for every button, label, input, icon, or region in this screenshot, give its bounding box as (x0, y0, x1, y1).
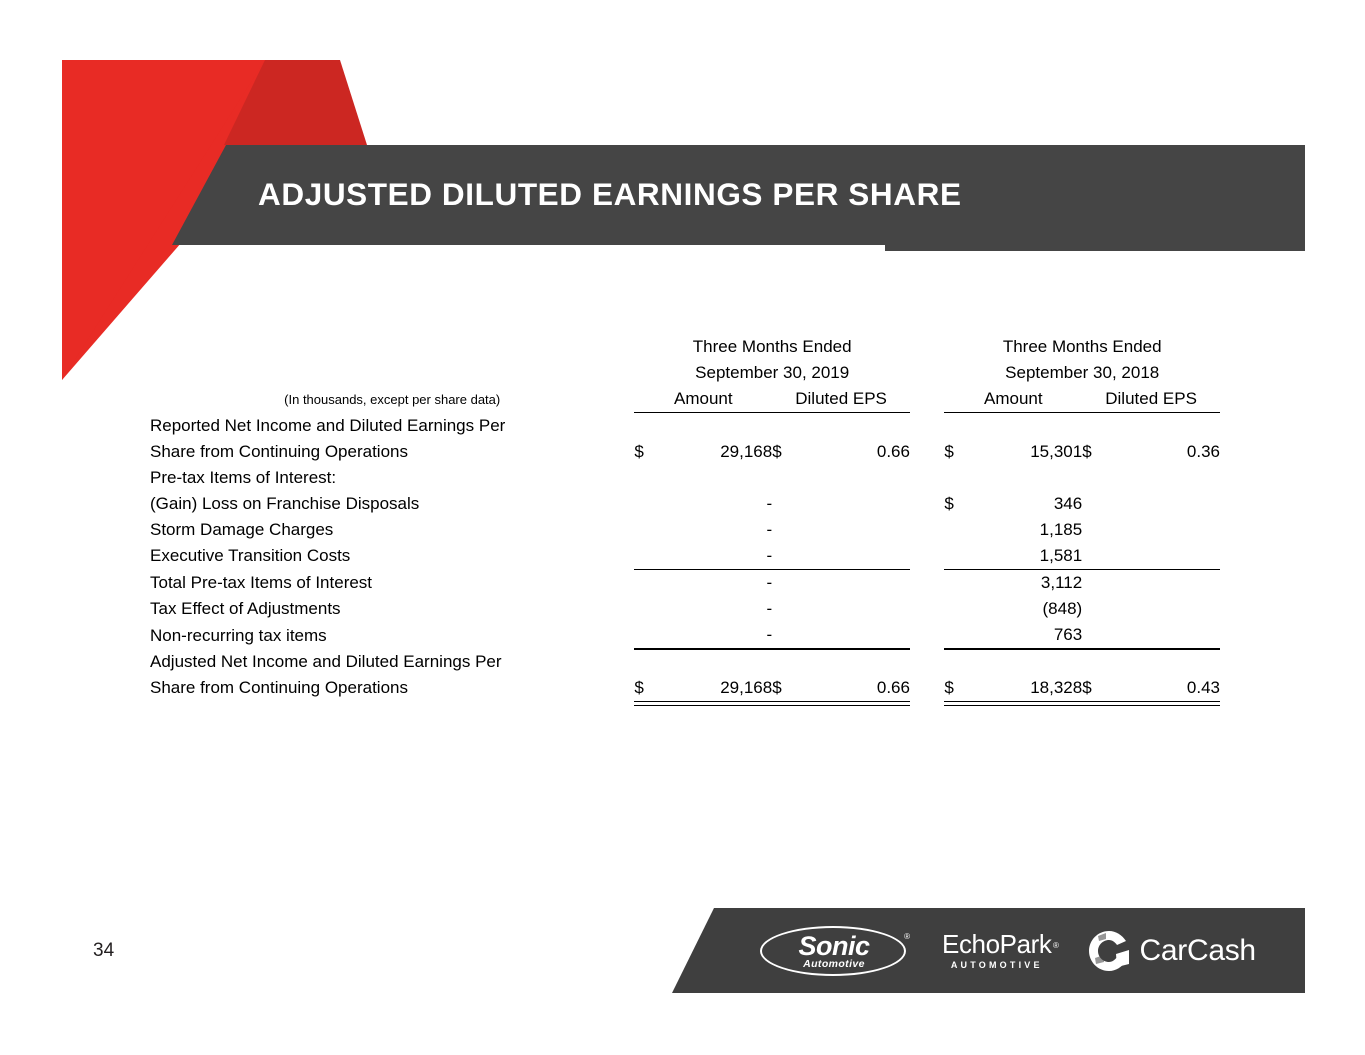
cell-2018-amount-currency: $ (944, 491, 974, 517)
cell-2019-amount-currency (634, 622, 664, 649)
sonic-registered-icon: ® (904, 932, 910, 941)
cell-2019-eps-value (802, 517, 910, 543)
table-body: Reported Net Income and Diluted Earnings… (150, 413, 1220, 702)
cell-2019-amount-value: - (665, 517, 773, 543)
red-wedge-front (62, 60, 265, 380)
period-header-2018: Three Months Ended September 30, 2018 (944, 334, 1220, 386)
cell-2019-eps-currency (772, 491, 802, 517)
cell-2019-eps-value (802, 622, 910, 649)
table-row: Tax Effect of Adjustments-(848) (150, 596, 1220, 622)
period-header-row: Three Months Ended September 30, 2019 Th… (150, 334, 1220, 386)
cell-2018-eps-currency (1082, 543, 1112, 570)
row-label: Reported Net Income and Diluted Earnings… (150, 413, 634, 439)
cell-2019-amount-value: - (665, 622, 773, 649)
table-row: Non-recurring tax items-763 (150, 622, 1220, 649)
period-2019-line1: Three Months Ended (693, 337, 852, 356)
cell-2018-amount-currency (944, 569, 974, 596)
column-gap (910, 569, 944, 596)
table-row: Share from Continuing Operations$29,168$… (150, 439, 1220, 465)
cell-2019-eps-currency: $ (772, 439, 802, 465)
cell-2019-eps-value (802, 543, 910, 570)
cell-2019-amount-currency (634, 543, 664, 570)
period-2018-line2: September 30, 2018 (944, 360, 1220, 386)
cell-2019-amount-currency: $ (634, 439, 664, 465)
units-note: (In thousands, except per share data) (150, 386, 634, 413)
cell-2018-amount-currency (944, 543, 974, 570)
cell-2019-eps-value (802, 491, 910, 517)
col-header-amount-2019: Amount (634, 386, 772, 413)
cell-2018-amount-currency (944, 517, 974, 543)
cell-2018-eps-value (1112, 491, 1220, 517)
row-label: Total Pre-tax Items of Interest (150, 569, 634, 596)
cell-2018-eps-currency: $ (1082, 439, 1112, 465)
cell-2019-eps-value (802, 596, 910, 622)
cell-2018-eps-currency (1082, 596, 1112, 622)
cell-2018-eps-currency (1082, 465, 1112, 491)
period-header-2019: Three Months Ended September 30, 2019 (634, 334, 910, 386)
column-gap (910, 439, 944, 465)
table-row: (Gain) Loss on Franchise Disposals-$346 (150, 491, 1220, 517)
row-label: Share from Continuing Operations (150, 675, 634, 702)
cell-2019-amount-currency (634, 465, 664, 491)
page-number: 34 (93, 940, 114, 962)
red-wedge-shape (62, 60, 340, 380)
carcash-mark-icon (1086, 928, 1132, 974)
cell-2018-eps-currency (1082, 622, 1112, 649)
col-header-eps-2018: Diluted EPS (1082, 386, 1220, 413)
cell-2019-amount-value: - (665, 596, 773, 622)
echopark-wordmark: EchoPark ® (942, 930, 1052, 958)
cell-2019-eps-value (802, 465, 910, 491)
table-row: Executive Transition Costs-1,581 (150, 543, 1220, 570)
cell-2018-eps-value: 0.43 (1112, 675, 1220, 702)
echopark-logo: EchoPark ® AUTOMOTIVE (942, 922, 1052, 980)
table-row: Total Pre-tax Items of Interest-3,112 (150, 569, 1220, 596)
cell-2019-amount-value (665, 465, 773, 491)
echopark-word-text: EchoPark (942, 929, 1052, 959)
cell-2019-eps-currency (772, 465, 802, 491)
row-spacer (634, 649, 1220, 675)
cell-2019-eps-currency (772, 543, 802, 570)
row-label: Adjusted Net Income and Diluted Earnings… (150, 649, 634, 675)
cell-2019-amount-value: - (665, 491, 773, 517)
cell-2019-amount-value: 29,168 (665, 439, 773, 465)
cell-2019-eps-value (802, 569, 910, 596)
cell-2018-amount-value: 763 (975, 622, 1083, 649)
cell-2018-amount-value: 346 (975, 491, 1083, 517)
row-label: Share from Continuing Operations (150, 439, 634, 465)
cell-2018-amount-value (975, 465, 1083, 491)
cell-2018-amount-value: 3,112 (975, 569, 1083, 596)
cell-2019-eps-currency (772, 622, 802, 649)
cell-2018-amount-currency (944, 622, 974, 649)
table-row: Storm Damage Charges-1,185 (150, 517, 1220, 543)
cell-2019-eps-currency (772, 517, 802, 543)
cell-2018-eps-value (1112, 517, 1220, 543)
column-gap (910, 491, 944, 517)
column-header-row: (In thousands, except per share data) Am… (150, 386, 1220, 413)
cell-2019-eps-currency (772, 569, 802, 596)
cell-2019-amount-currency (634, 596, 664, 622)
cell-2018-eps-currency: $ (1082, 675, 1112, 702)
cell-2019-eps-currency (772, 596, 802, 622)
table-row: Adjusted Net Income and Diluted Earnings… (150, 649, 1220, 675)
column-gap (910, 675, 944, 702)
cell-2018-eps-value (1112, 569, 1220, 596)
cell-2019-amount-value: - (665, 569, 773, 596)
cell-2018-amount-value: (848) (975, 596, 1083, 622)
row-label: Executive Transition Costs (150, 543, 634, 570)
cell-2019-amount-currency: $ (634, 675, 664, 702)
column-gap (910, 596, 944, 622)
cell-2018-amount-currency: $ (944, 675, 974, 702)
row-label: Tax Effect of Adjustments (150, 596, 634, 622)
table-row: Reported Net Income and Diluted Earnings… (150, 413, 1220, 439)
period-2019-line2: September 30, 2019 (634, 360, 910, 386)
footer-logo-group: Sonic Automotive ® EchoPark ® AUTOMOTIVE… (672, 908, 1305, 993)
cell-2019-eps-value: 0.66 (802, 675, 910, 702)
cell-2018-amount-currency: $ (944, 439, 974, 465)
column-gap (910, 517, 944, 543)
cell-2018-amount-currency (944, 465, 974, 491)
page-title: ADJUSTED DILUTED EARNINGS PER SHARE (258, 176, 1278, 213)
cell-2019-amount-currency (634, 491, 664, 517)
cell-2018-eps-value (1112, 622, 1220, 649)
sonic-wordmark: Sonic (798, 933, 869, 959)
row-spacer (634, 413, 1220, 439)
cell-2019-amount-value: 29,168 (665, 675, 773, 702)
cell-2018-amount-value: 15,301 (975, 439, 1083, 465)
row-label: Pre-tax Items of Interest: (150, 465, 634, 491)
cell-2018-eps-value (1112, 596, 1220, 622)
cell-2018-amount-value: 18,328 (975, 675, 1083, 702)
echopark-subtitle: AUTOMOTIVE (951, 958, 1043, 972)
cell-2019-eps-currency: $ (772, 675, 802, 702)
sonic-automotive-logo: Sonic Automotive ® (760, 922, 908, 980)
row-label: Non-recurring tax items (150, 622, 634, 649)
echopark-registered-icon: ® (1053, 932, 1059, 960)
carcash-logo: CarCash (1086, 922, 1256, 980)
cell-2018-eps-value (1112, 543, 1220, 570)
cell-2018-amount-value: 1,185 (975, 517, 1083, 543)
cell-2018-eps-currency (1082, 491, 1112, 517)
red-wedge-shadow (224, 60, 367, 145)
cell-2018-amount-value: 1,581 (975, 543, 1083, 570)
column-gap (910, 543, 944, 570)
cell-2019-amount-currency (634, 517, 664, 543)
column-gap (910, 622, 944, 649)
cell-2018-eps-currency (1082, 569, 1112, 596)
table-row: Pre-tax Items of Interest: (150, 465, 1220, 491)
cell-2019-amount-currency (634, 569, 664, 596)
cell-2019-amount-value: - (665, 543, 773, 570)
carcash-wordmark: CarCash (1140, 935, 1256, 967)
slide-canvas: ADJUSTED DILUTED EARNINGS PER SHARE Thre… (0, 0, 1365, 1055)
sonic-subtitle: Automotive (800, 959, 868, 970)
col-header-eps-2019: Diluted EPS (772, 386, 910, 413)
period-2018-line1: Three Months Ended (1003, 337, 1162, 356)
cell-2018-eps-value (1112, 465, 1220, 491)
column-gap (910, 465, 944, 491)
cell-2018-amount-currency (944, 596, 974, 622)
table-row: Share from Continuing Operations$29,168$… (150, 675, 1220, 702)
col-header-amount-2018: Amount (944, 386, 1082, 413)
row-label: Storm Damage Charges (150, 517, 634, 543)
cell-2018-eps-value: 0.36 (1112, 439, 1220, 465)
cell-2019-eps-value: 0.66 (802, 439, 910, 465)
row-label: (Gain) Loss on Franchise Disposals (150, 491, 634, 517)
financial-table: Three Months Ended September 30, 2019 Th… (150, 334, 1220, 702)
cell-2018-eps-currency (1082, 517, 1112, 543)
